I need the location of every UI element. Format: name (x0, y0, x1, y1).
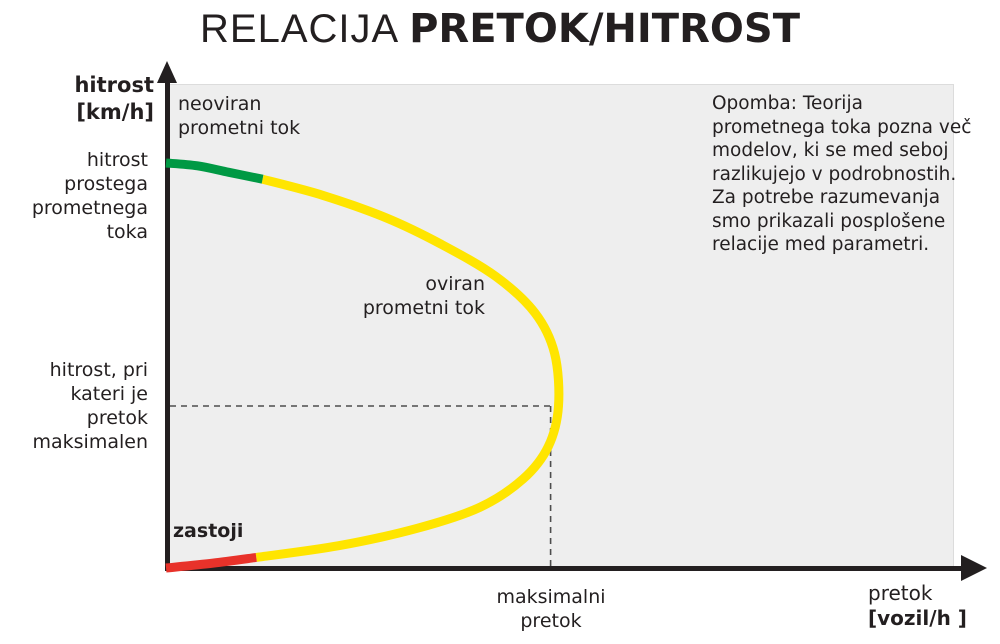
y-axis-title: hitrost [km/h] (74, 72, 154, 126)
annotation-jam: zastoji (173, 519, 243, 543)
label-maximum-flow: maksimalnipretok (451, 585, 651, 633)
annotation-congested-flow: oviranprometni tok (290, 272, 485, 320)
note-text: Opomba: Teorija prometnega toka pozna ve… (712, 92, 974, 257)
label-capacity-speed: hitrost, prikateri jepretokmaksimalen (33, 358, 149, 454)
page-title-light: RELACIJA (200, 7, 409, 51)
x-axis-title-unit: [vozil/h ] (868, 606, 967, 631)
annotation-free-flow: neoviranprometni tok (178, 92, 300, 140)
page-title: RELACIJA PRETOK/HITROST (0, 6, 1000, 52)
x-axis-line (165, 566, 965, 571)
x-axis-title-name: pretok (868, 581, 967, 606)
y-axis-line (165, 78, 170, 570)
y-axis-title-unit: [km/h] (74, 99, 154, 126)
x-axis-arrow-icon (961, 555, 987, 581)
x-axis-title: pretok [vozil/h ] (868, 581, 967, 631)
label-free-flow-speed: hitrostprostegaprometnegatoka (32, 148, 148, 244)
y-axis-arrow-icon (157, 61, 177, 83)
y-axis-title-name: hitrost (74, 72, 154, 99)
page-title-bold: PRETOK/HITROST (409, 6, 800, 52)
